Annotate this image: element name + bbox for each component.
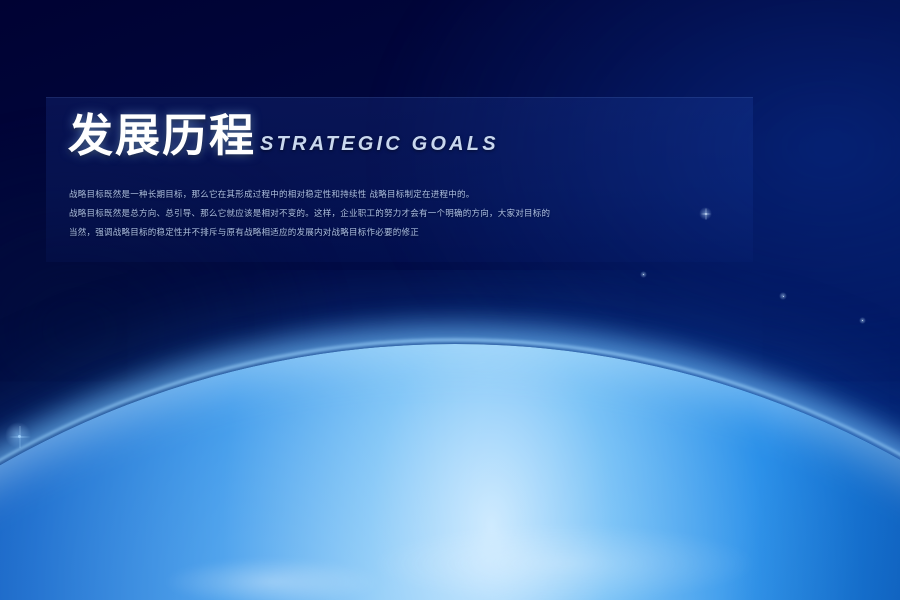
banner-canvas: 发展历程 STRATEGIC GOALS 战略目标既然是一种长期目标，那么它在其… [0,0,900,600]
banner-body-copy: 战略目标既然是一种长期目标，那么它在其形成过程中的相对稳定性和持续性 战略目标制… [69,188,741,245]
earth-region [0,270,900,600]
banner-headline: 发展历程 STRATEGIC GOALS [68,113,499,158]
page-subtitle: STRATEGIC GOALS [260,133,499,158]
body-line: 战略目标既然是一种长期目标，那么它在其形成过程中的相对稳定性和持续性 战略目标制… [69,188,741,202]
body-line: 当然，强调战略目标的稳定性并不排斥与原有战略相适应的发展内对战略目标作必要的修正 [69,226,741,240]
page-title: 发展历程 [68,113,256,158]
body-line: 战略目标既然是总方向、总引导、那么它就应该是相对不变的。这样，企业职工的努力才会… [69,207,741,221]
